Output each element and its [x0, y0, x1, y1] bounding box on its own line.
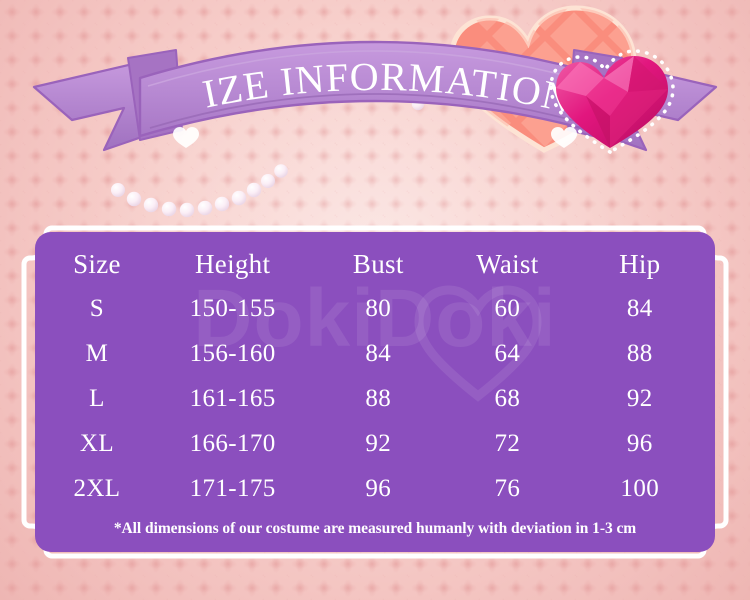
size-table: Size Height Bust Waist Hip S 150-155 80 … [44, 242, 706, 511]
table-header-row: Size Height Bust Waist Hip [44, 242, 706, 286]
heart-icon [551, 127, 577, 148]
cell-size: L [44, 376, 150, 421]
column-header-bust: Bust [315, 242, 441, 286]
cell-size: XL [44, 421, 150, 466]
table-row: XL 166-170 92 72 96 [44, 421, 706, 466]
table-row: L 161-165 88 68 92 [44, 376, 706, 421]
cell-waist: 60 [441, 286, 573, 331]
cell-height: 166-170 [150, 421, 316, 466]
cell-hip: 100 [574, 466, 706, 511]
measurement-disclaimer: *All dimensions of our costume are measu… [44, 520, 706, 538]
heart-icon [173, 127, 199, 148]
cell-bust: 88 [315, 376, 441, 421]
size-table-panel: DokiDoki Size Height Bust Waist Hip [18, 222, 732, 562]
cell-size: 2XL [44, 466, 150, 511]
column-header-waist: Waist [441, 242, 573, 286]
cell-size: M [44, 331, 150, 376]
table-row: S 150-155 80 60 84 [44, 286, 706, 331]
banner: SIZE INFORMATION [0, 0, 750, 175]
table-row: 2XL 171-175 96 76 100 [44, 466, 706, 511]
cell-bust: 80 [315, 286, 441, 331]
cell-hip: 92 [574, 376, 706, 421]
column-header-size: Size [44, 242, 150, 286]
cell-height: 171-175 [150, 466, 316, 511]
cell-bust: 96 [315, 466, 441, 511]
table-row: M 156-160 84 64 88 [44, 331, 706, 376]
cell-waist: 76 [441, 466, 573, 511]
cell-hip: 84 [574, 286, 706, 331]
cell-hip: 96 [574, 421, 706, 466]
banner-ribbon: SIZE INFORMATION [0, 0, 750, 175]
cell-height: 161-165 [150, 376, 316, 421]
cell-bust: 92 [315, 421, 441, 466]
cell-bust: 84 [315, 331, 441, 376]
cell-hip: 88 [574, 331, 706, 376]
column-header-height: Height [150, 242, 316, 286]
cell-height: 156-160 [150, 331, 316, 376]
column-header-hip: Hip [574, 242, 706, 286]
panel-content: Size Height Bust Waist Hip S 150-155 80 … [18, 222, 732, 562]
cell-size: S [44, 286, 150, 331]
cell-waist: 64 [441, 331, 573, 376]
cell-waist: 68 [441, 376, 573, 421]
size-chart-image: SIZE INFORMATION [0, 0, 750, 600]
cell-waist: 72 [441, 421, 573, 466]
cell-height: 150-155 [150, 286, 316, 331]
